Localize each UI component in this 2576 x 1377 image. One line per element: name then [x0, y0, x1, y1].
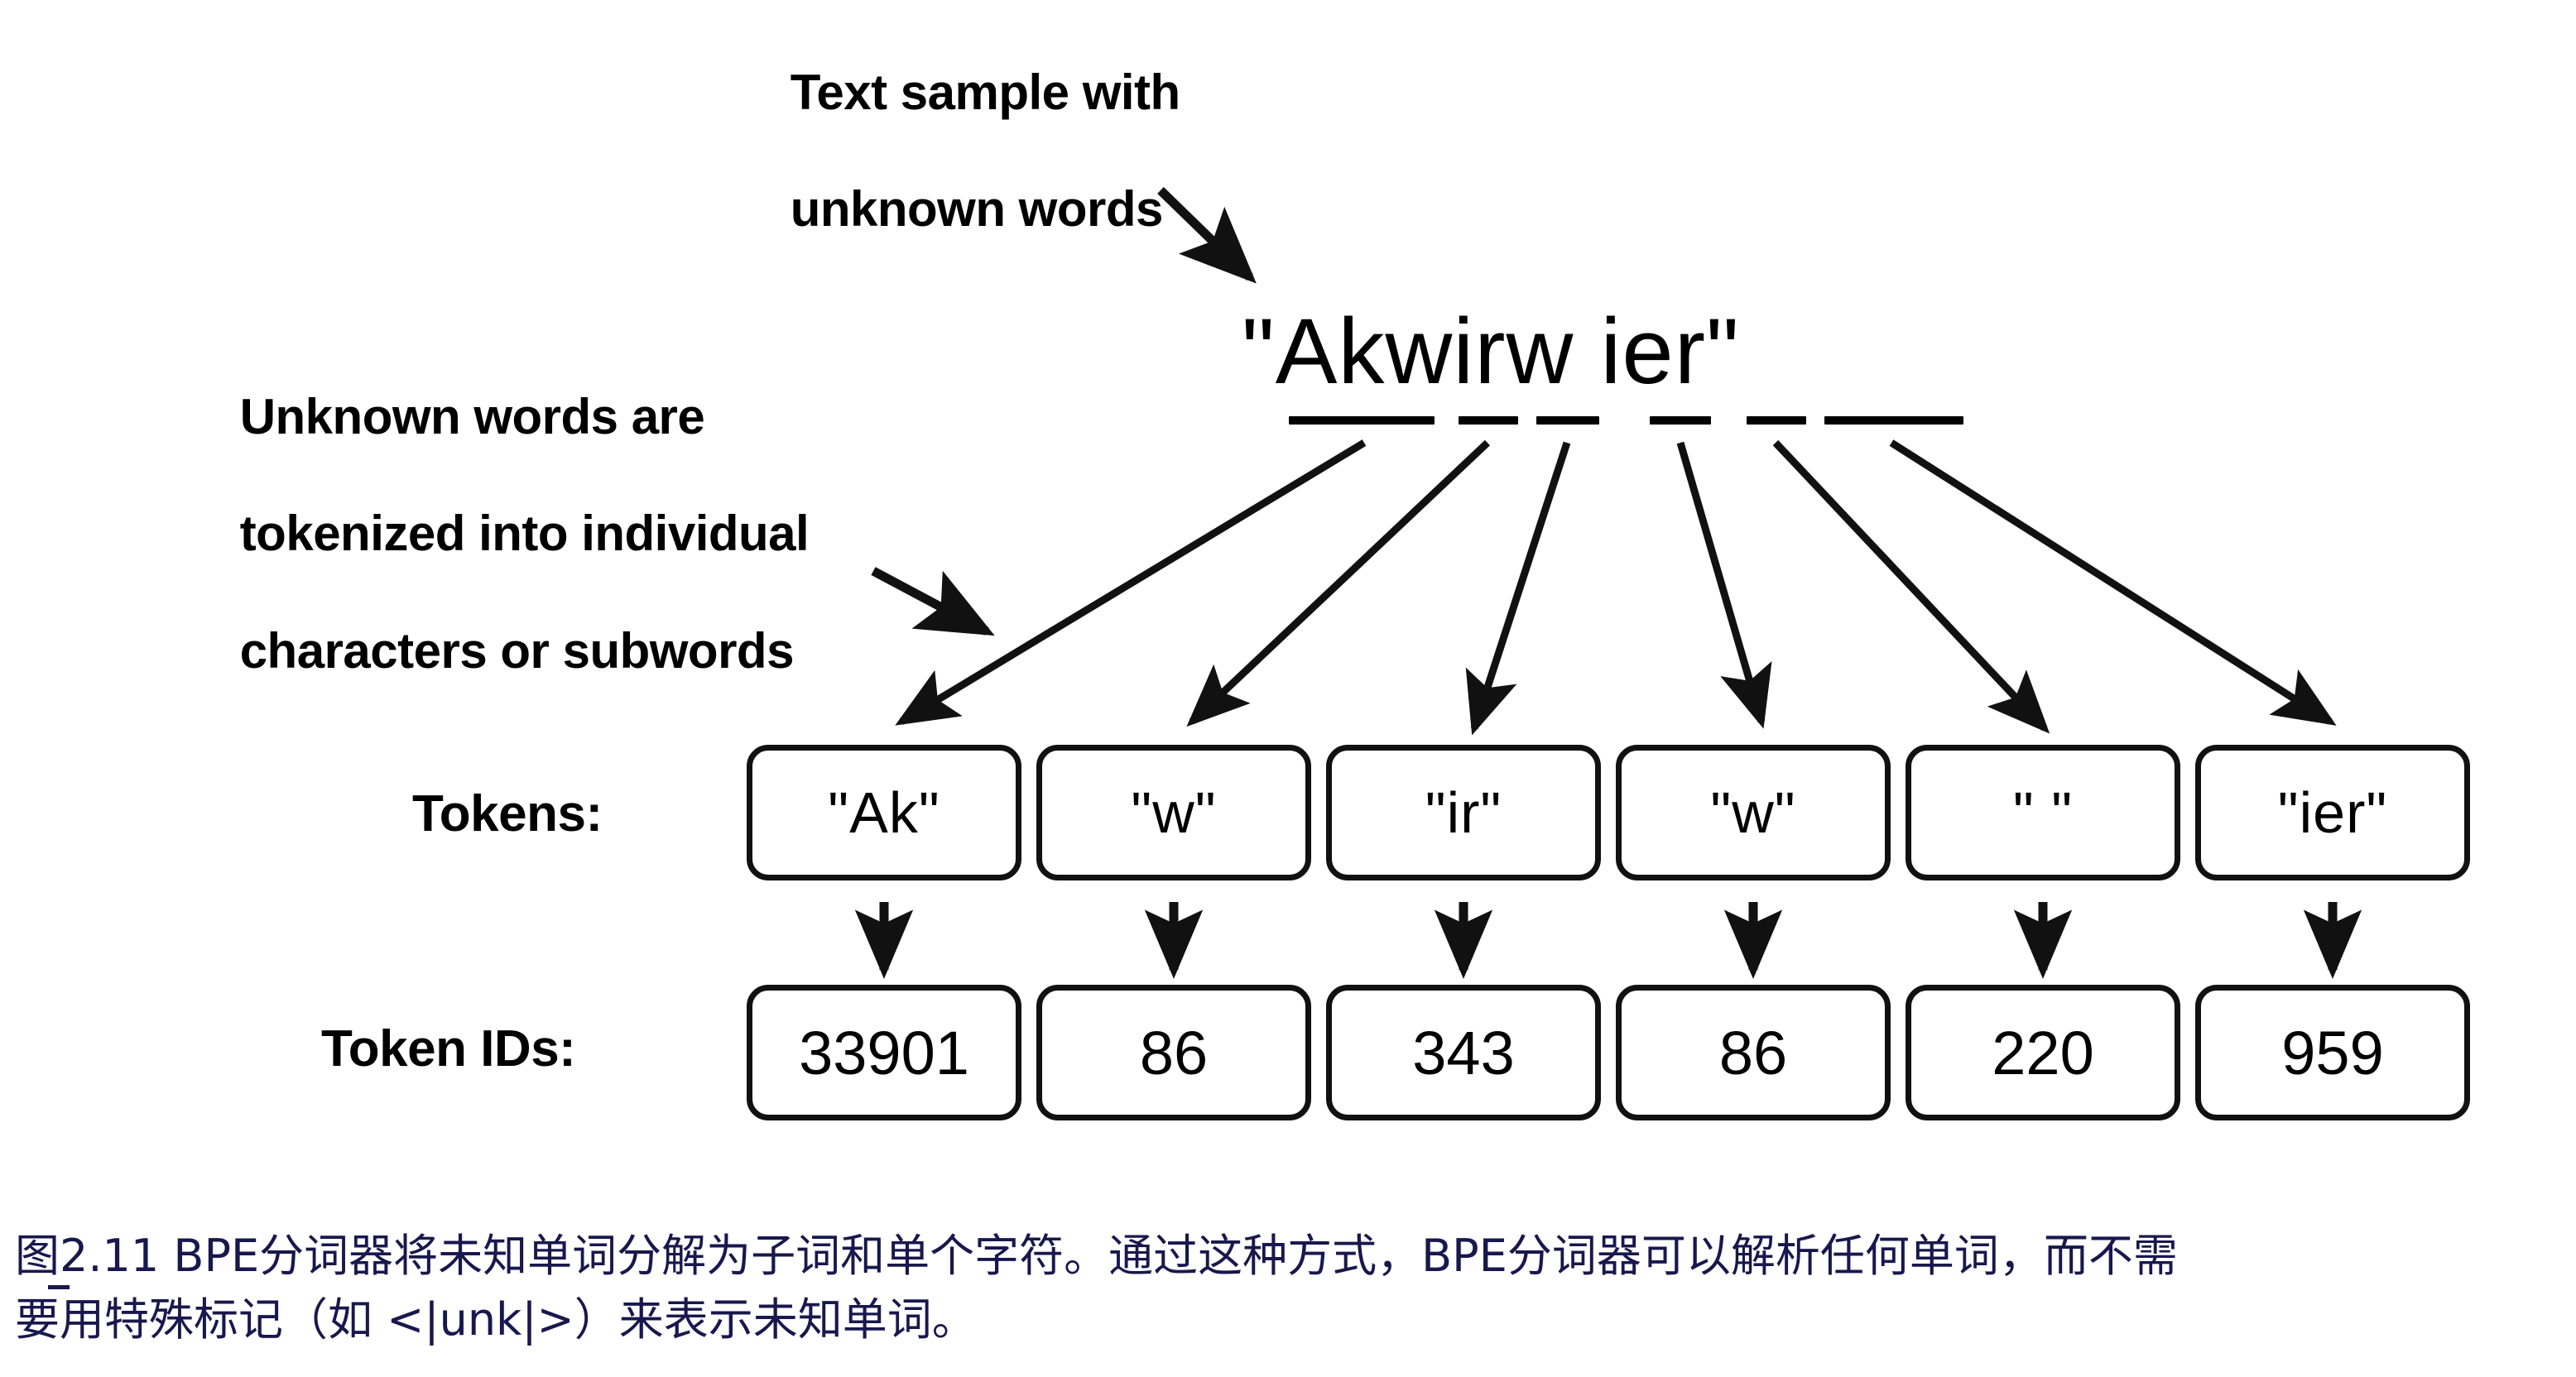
- token-box[interactable]: "Ak": [747, 745, 1021, 880]
- sample-string: "Akwirw ier": [1242, 298, 1740, 405]
- annotation-text-sample: Text sample with unknown words: [737, 5, 1180, 298]
- figure-caption: 图2.11 BPE分词器将未知单词分解为子词和单个字符。通过这种方式，BPE分词…: [15, 1225, 2564, 1351]
- underline-segment-w1: [1459, 416, 1518, 425]
- caption-underline-mark: [48, 1285, 70, 1289]
- token-id-box[interactable]: 86: [1036, 985, 1311, 1120]
- token-box[interactable]: "w": [1036, 745, 1311, 880]
- underline-segment-ier: [1824, 416, 1963, 425]
- underline-segment-ir: [1536, 416, 1599, 425]
- token-id-box[interactable]: 86: [1616, 985, 1891, 1120]
- row-label-token-ids: Token IDs:: [321, 1020, 575, 1078]
- annotation-unknown-words: Unknown words are tokenized into individ…: [186, 329, 809, 740]
- annotation-text-sample-line2: unknown words: [791, 181, 1163, 237]
- token-id-box[interactable]: 343: [1326, 985, 1601, 1120]
- token-id-box[interactable]: 33901: [747, 985, 1021, 1120]
- token-box[interactable]: "ir": [1326, 745, 1601, 880]
- underline-segment-ak: [1289, 416, 1435, 425]
- underline-segment-space: [1747, 416, 1806, 425]
- token-box[interactable]: "ier": [2195, 745, 2470, 880]
- annotation-unknown-words-line2: tokenized into individual: [240, 506, 810, 561]
- annotation-unknown-words-line1: Unknown words are: [240, 389, 705, 444]
- fan-arrow-1: [901, 443, 1364, 722]
- figure-canvas: Text sample with unknown words Unknown w…: [0, 0, 2576, 1377]
- row-label-tokens: Tokens:: [412, 784, 603, 843]
- underline-segment-w2: [1650, 416, 1711, 425]
- fan-arrow-3: [1474, 443, 1567, 728]
- fan-arrow-5: [1776, 443, 2045, 728]
- token-box[interactable]: " ": [1906, 745, 2180, 880]
- caption-line-2: 要用特殊标记（如 <|unk|>）来表示未知单词。: [15, 1288, 2564, 1352]
- fan-arrow-6: [1891, 443, 2330, 722]
- annotation-text-sample-line1: Text sample with: [791, 65, 1180, 120]
- caption-line-1: 图2.11 BPE分词器将未知单词分解为子词和单个字符。通过这种方式，BPE分词…: [15, 1225, 2564, 1288]
- arrow-annotation-to-tokens: [873, 571, 987, 631]
- token-id-box[interactable]: 220: [1906, 985, 2180, 1120]
- token-id-box[interactable]: 959: [2195, 985, 2470, 1120]
- token-box[interactable]: "w": [1616, 745, 1891, 880]
- annotation-unknown-words-line3: characters or subwords: [240, 623, 794, 679]
- fan-arrow-4: [1680, 443, 1761, 722]
- fan-arrow-2: [1192, 443, 1487, 722]
